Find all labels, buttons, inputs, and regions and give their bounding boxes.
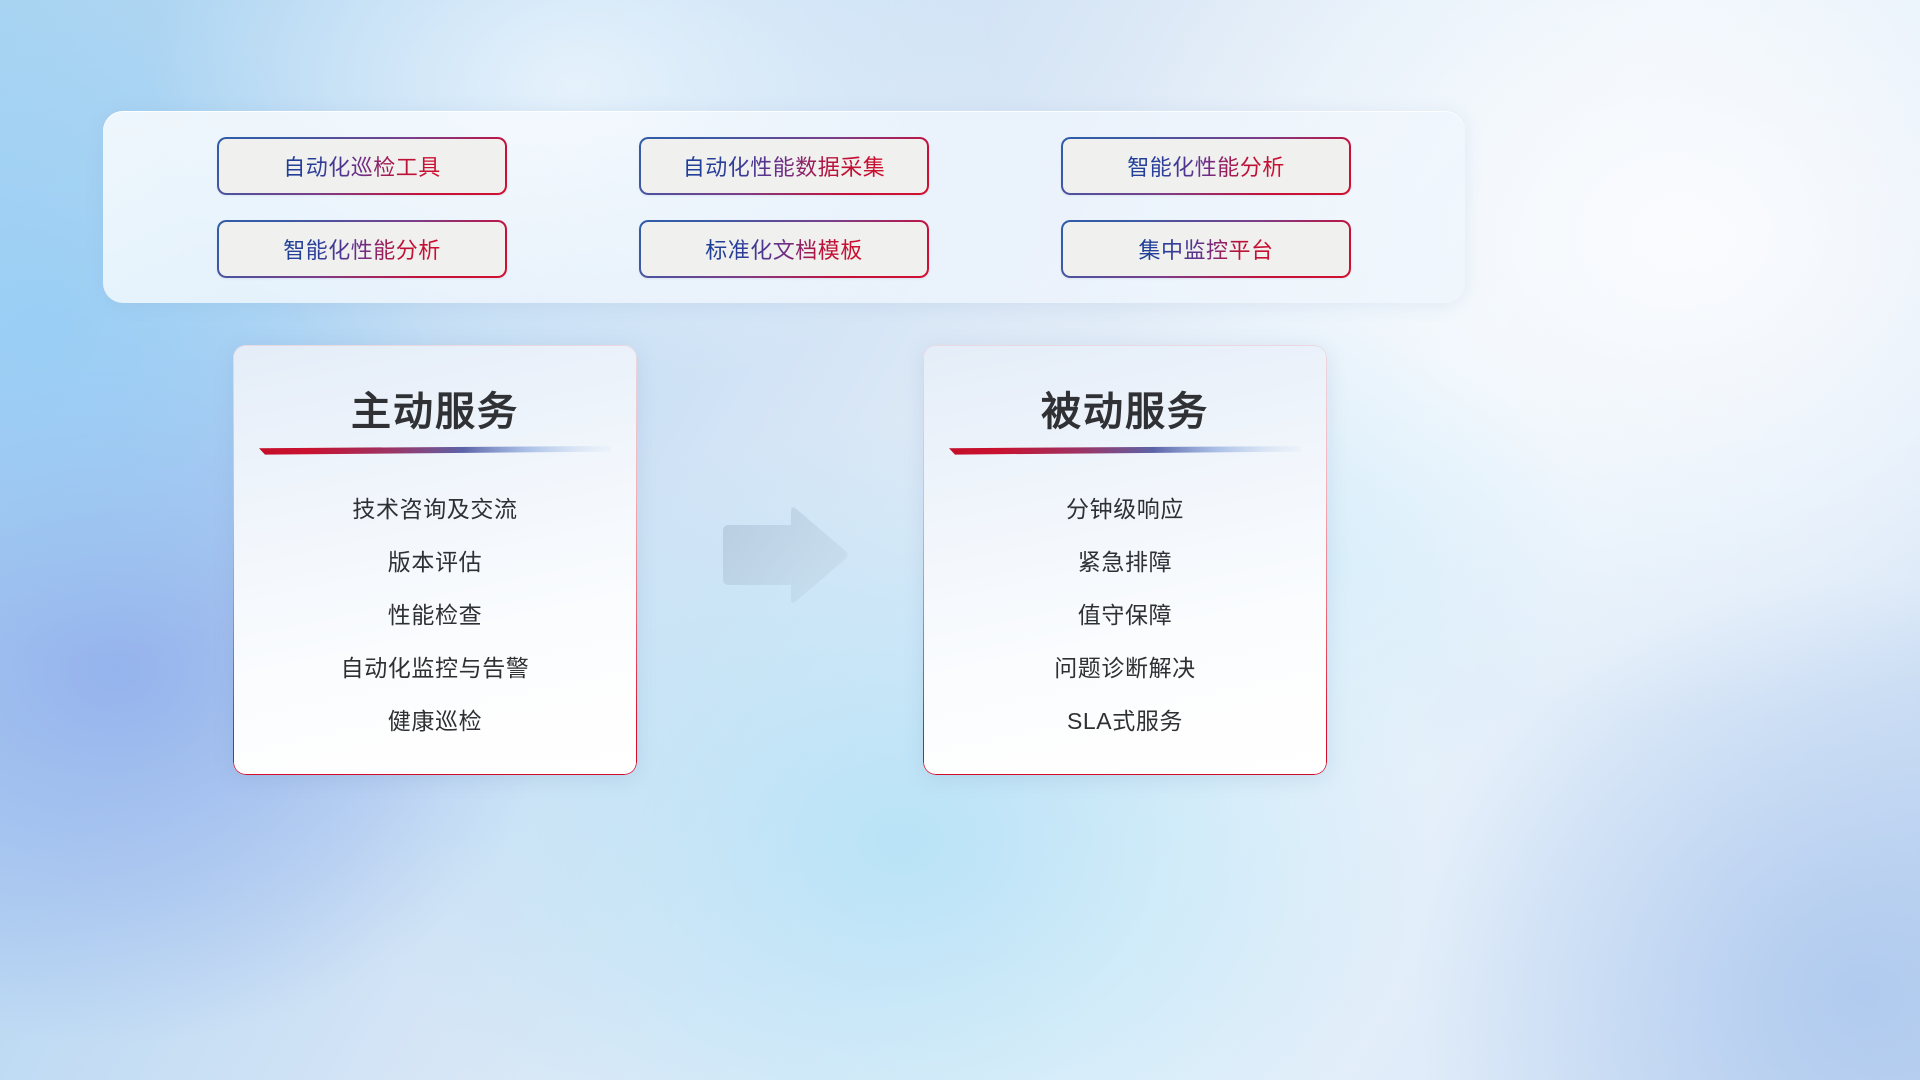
passive-service-title: 被动服务 <box>923 379 1327 437</box>
card-divider-active <box>259 446 611 455</box>
capability-tag-label: 智能化性能分析 <box>283 233 441 265</box>
capability-tag[interactable]: 智能化性能分析 <box>1061 137 1351 195</box>
capability-tag[interactable]: 自动化性能数据采集 <box>639 137 929 195</box>
list-item: 版本评估 <box>388 551 482 574</box>
list-item: 分钟级响应 <box>1066 498 1184 521</box>
list-item: SLA式服务 <box>1067 710 1183 733</box>
capability-tag-label: 标准化文档模板 <box>705 233 863 265</box>
active-service-list: 技术咨询及交流 版本评估 性能检查 自动化监控与告警 健康巡检 <box>233 480 637 755</box>
list-item: 值守保障 <box>1078 604 1172 627</box>
capability-tag[interactable]: 智能化性能分析 <box>217 220 507 278</box>
list-item: 紧急排障 <box>1078 551 1172 574</box>
list-item: 自动化监控与告警 <box>341 657 530 680</box>
active-service-card[interactable]: 主动服务 技术咨询及交流 版本评估 性能检查 自动化监控与告警 健康巡检 <box>233 345 637 775</box>
list-item: 性能检查 <box>388 604 482 627</box>
capability-tag[interactable]: 自动化巡检工具 <box>217 137 507 195</box>
list-item: 问题诊断解决 <box>1054 657 1196 680</box>
active-service-title: 主动服务 <box>233 379 637 437</box>
capability-tag-label: 集中监控平台 <box>1138 233 1273 265</box>
list-item: 技术咨询及交流 <box>352 498 517 521</box>
capability-tag-label: 自动化巡检工具 <box>283 150 441 182</box>
capability-tag[interactable]: 标准化文档模板 <box>639 220 929 278</box>
capability-tag[interactable]: 集中监控平台 <box>1061 220 1351 278</box>
capability-tags-panel: 自动化巡检工具 自动化性能数据采集 智能化性能分析 智能化性能分析 标准化文档模… <box>103 111 1465 303</box>
flow-arrow-right-icon <box>717 505 850 605</box>
card-divider-passive <box>949 446 1301 455</box>
capability-tag-label: 自动化性能数据采集 <box>683 150 886 182</box>
capability-tag-label: 智能化性能分析 <box>1127 150 1285 182</box>
capability-tag-grid: 自动化巡检工具 自动化性能数据采集 智能化性能分析 智能化性能分析 标准化文档模… <box>103 111 1465 303</box>
list-item: 健康巡检 <box>388 710 482 733</box>
passive-service-list: 分钟级响应 紧急排障 值守保障 问题诊断解决 SLA式服务 <box>923 480 1327 755</box>
passive-service-card[interactable]: 被动服务 分钟级响应 紧急排障 值守保障 问题诊断解决 SLA式服务 <box>923 345 1327 775</box>
